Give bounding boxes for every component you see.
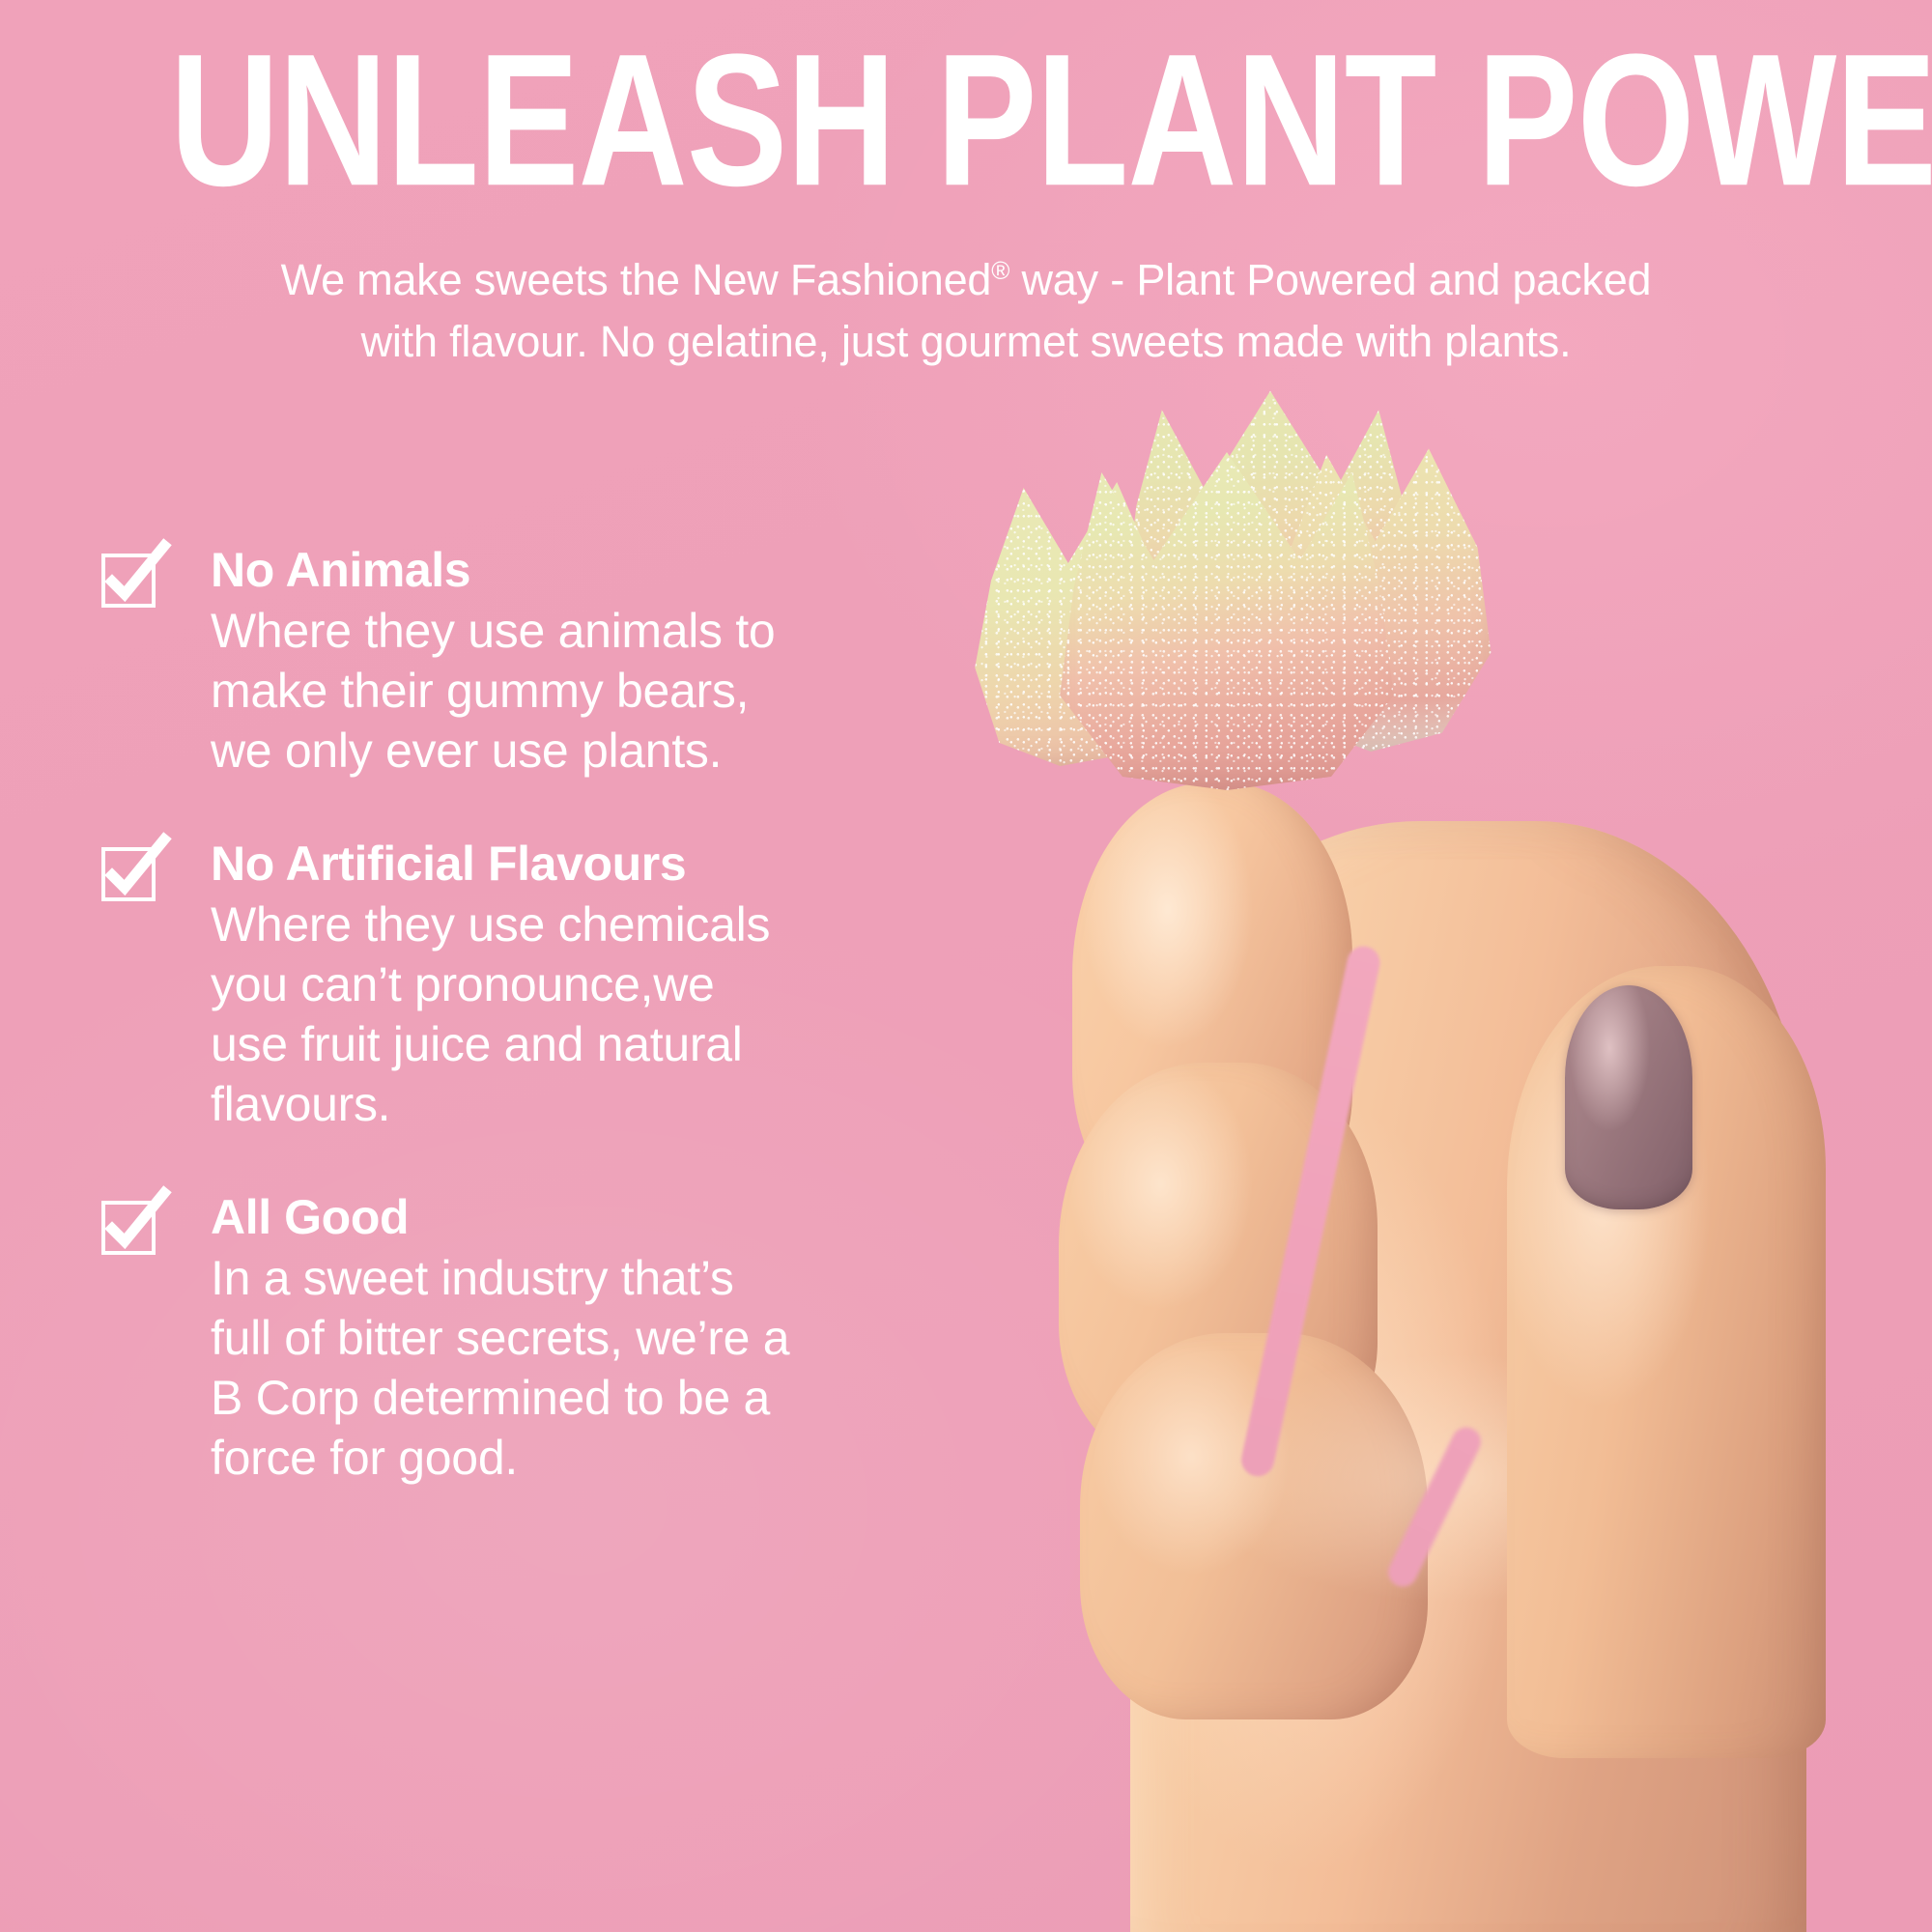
registered-mark-icon: ® (991, 256, 1009, 285)
list-item-title: No Artificial Flavours (211, 835, 947, 893)
checkbox-checked-icon (100, 842, 160, 902)
subtitle-line2: with flavour. No gelatine, just gourmet … (361, 317, 1572, 366)
checkbox-checked-icon (100, 1196, 160, 1256)
subtitle-line1-b: way - Plant Powered and packed (1009, 255, 1651, 304)
checkbox-checked-icon (100, 549, 160, 609)
list-item-body: Where they use chemicals you can’t prono… (211, 895, 947, 1134)
poster-canvas: UNLEASH PLANT POWER We make sweets the N… (0, 0, 1932, 1932)
list-item-body: Where they use animals to make their gum… (211, 601, 947, 781)
list-item-title: All Good (211, 1188, 947, 1246)
list-item-title: No Animals (211, 541, 947, 599)
gummy-cluster (1053, 384, 1507, 810)
hand-holding-gummies-photo (966, 367, 1932, 1932)
subtitle: We make sweets the New Fashioned® way - … (97, 249, 1835, 373)
gummy-sweet-front (1053, 452, 1401, 790)
thumbnail-polish (1565, 985, 1692, 1209)
list-item: No Artificial Flavours Where they use ch… (97, 835, 947, 1134)
list-item: No Animals Where they use animals to mak… (97, 541, 947, 781)
list-item: All Good In a sweet industry that’s full… (97, 1188, 947, 1488)
subtitle-line1-a: We make sweets the New Fashioned (281, 255, 992, 304)
benefits-checklist: No Animals Where they use animals to mak… (97, 541, 947, 1488)
page-title: UNLEASH PLANT POWER (170, 33, 1582, 207)
list-item-body: In a sweet industry that’s full of bitte… (211, 1248, 947, 1488)
